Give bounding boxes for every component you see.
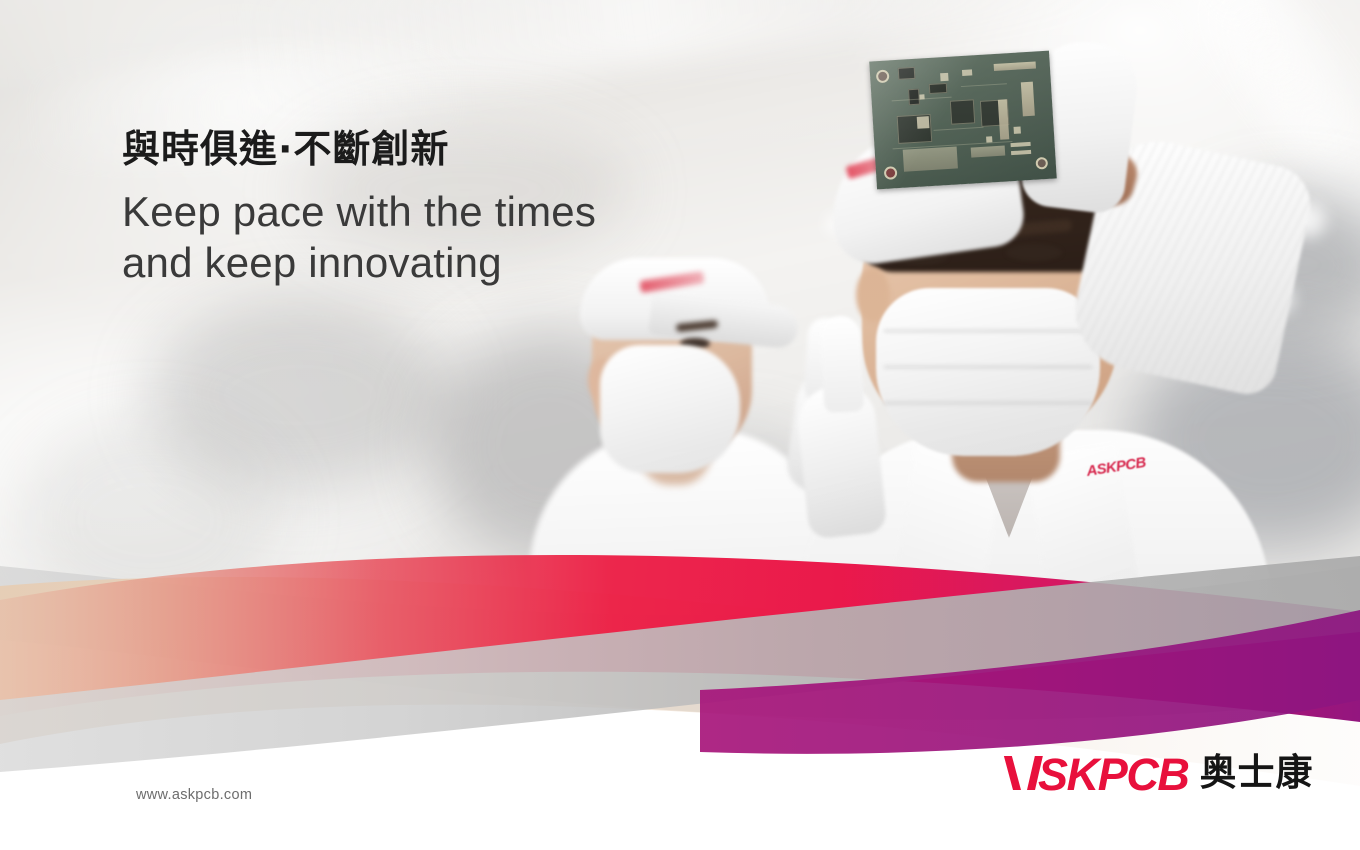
headline-english: Keep pace with the times and keep innova… (122, 186, 742, 288)
askpcb-logo[interactable]: SKPCB 奥士康 (1012, 752, 1314, 797)
headline-block: 與時俱進·不斷創新 Keep pace with the times and k… (122, 128, 742, 288)
headline-chinese: 與時俱進·不斷創新 (122, 128, 742, 172)
logo-letter-a-icon (1012, 757, 1037, 790)
male-worker-eye (1006, 244, 1062, 261)
mask-pleat (884, 366, 1092, 368)
askpcb-marketing-banner: ASKPCB (0, 0, 1360, 850)
logo-wordmark: SKPCB (1012, 752, 1189, 797)
mask-pleat (884, 330, 1092, 332)
website-url[interactable]: www.askpcb.com (136, 787, 252, 803)
male-worker-pointing-finger (820, 315, 865, 413)
male-worker-face-mask (876, 288, 1100, 456)
printed-circuit-board (869, 51, 1056, 190)
headline-english-line2: and keep innovating (122, 237, 742, 288)
factory-photo: ASKPCB (0, 0, 1360, 640)
mask-pleat (884, 402, 1092, 404)
logo-chinese-name: 奥士康 (1200, 754, 1314, 791)
blurred-machinery (20, 420, 280, 620)
female-worker-face-mask (600, 345, 740, 473)
headline-english-line1: Keep pace with the times (122, 186, 742, 237)
logo-wordmark-text: SKPCB (1038, 752, 1189, 797)
